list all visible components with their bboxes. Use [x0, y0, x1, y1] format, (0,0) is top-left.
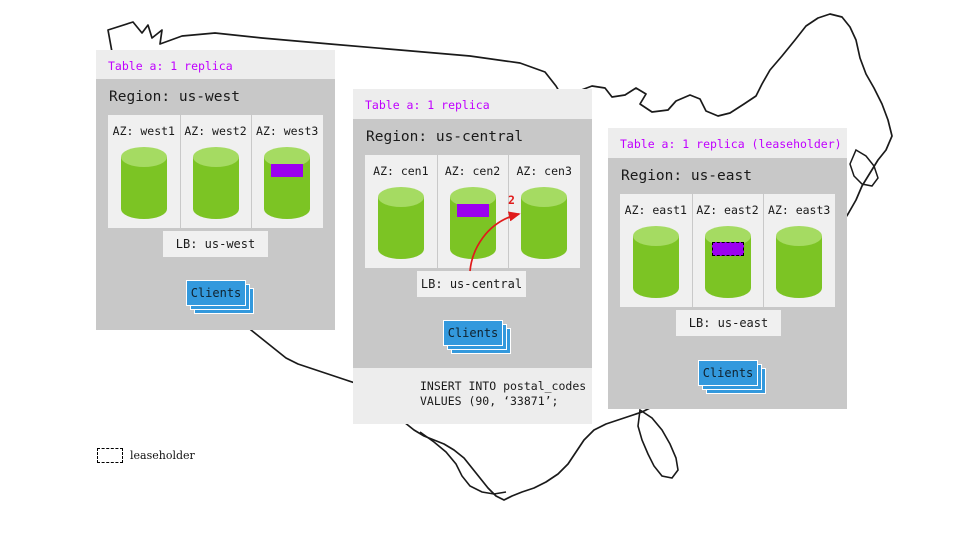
lb-label-us-west: LB: us-west — [176, 237, 255, 251]
az-label-east3: AZ: east3 — [768, 203, 830, 217]
az-label-cen3: AZ: cen3 — [516, 164, 571, 178]
clients-us-east[interactable]: Clients — [698, 360, 766, 394]
sql-statement-us-central: INSERT INTO postal_codes VALUES (90, ‘33… — [420, 379, 600, 409]
az-label-west3: AZ: west3 — [256, 124, 318, 138]
region-panel-us-east: Table a: 1 replica (leaseholder) — [608, 128, 847, 162]
az-label-east2: AZ: east2 — [696, 203, 758, 217]
az-cell-cen2[interactable]: AZ: cen2 — [437, 155, 509, 268]
clients-us-central[interactable]: Clients — [443, 320, 511, 354]
az-cell-east3[interactable]: AZ: east3 — [763, 194, 835, 307]
panel-title-us-east: Table a: 1 replica (leaseholder) — [608, 128, 847, 151]
replica-cylinder-west3[interactable] — [263, 146, 311, 220]
clients-us-west[interactable]: Clients — [186, 280, 254, 314]
replica-cylinder-east1[interactable] — [632, 225, 680, 299]
panel-title-us-west: Table a: 1 replica — [96, 50, 335, 73]
load-balancer-us-central[interactable]: LB: us-central — [417, 271, 526, 297]
az-label-west2: AZ: west2 — [184, 124, 246, 138]
az-label-west1: AZ: west1 — [113, 124, 175, 138]
replica-marker-west3 — [271, 164, 303, 177]
az-label-east1: AZ: east1 — [625, 203, 687, 217]
legend: leaseholder — [97, 448, 195, 463]
region-panel-us-central: Table a: 1 replica — [353, 89, 592, 123]
region-label-us-central: Region: us-central — [353, 119, 592, 145]
arrow-label-2: 2 — [508, 193, 515, 207]
diagram-canvas: Table a: 1 replica Region: us-west AZ: w… — [0, 0, 960, 540]
lb-label-us-central: LB: us-central — [421, 277, 522, 291]
clients-label-us-west: Clients — [191, 286, 242, 300]
legend-label: leaseholder — [130, 449, 195, 462]
clients-sheet-front[interactable]: Clients — [186, 280, 246, 306]
az-cell-west1[interactable]: AZ: west1 — [108, 115, 180, 228]
replica-cylinder-cen2[interactable] — [449, 186, 497, 260]
replica-cylinder-west1[interactable] — [120, 146, 168, 220]
load-balancer-us-west[interactable]: LB: us-west — [163, 231, 268, 257]
replica-cylinder-cen1[interactable] — [377, 186, 425, 260]
replica-cylinder-cen3[interactable] — [520, 186, 568, 260]
leaseholder-marker-east2 — [712, 242, 744, 256]
replica-marker-cen2 — [457, 204, 489, 217]
az-cell-cen3[interactable]: AZ: cen3 — [508, 155, 580, 268]
region-label-us-west: Region: us-west — [96, 79, 335, 105]
clients-label-us-east: Clients — [703, 366, 754, 380]
replica-cylinder-east2[interactable] — [704, 225, 752, 299]
az-label-cen1: AZ: cen1 — [373, 164, 428, 178]
az-cell-east2[interactable]: AZ: east2 — [692, 194, 764, 307]
az-row-us-west: AZ: west1 AZ: west2 AZ: west3 — [108, 115, 323, 228]
clients-label-us-central: Clients — [448, 326, 499, 340]
az-row-us-east: AZ: east1 AZ: east2 AZ: east3 — [620, 194, 835, 307]
replica-cylinder-west2[interactable] — [192, 146, 240, 220]
replica-cylinder-east3[interactable] — [775, 225, 823, 299]
dashed-rect-icon — [97, 448, 123, 463]
panel-title-us-central: Table a: 1 replica — [353, 89, 592, 112]
clients-sheet-front[interactable]: Clients — [443, 320, 503, 346]
az-cell-east1[interactable]: AZ: east1 — [620, 194, 692, 307]
az-label-cen2: AZ: cen2 — [445, 164, 500, 178]
lb-label-us-east: LB: us-east — [689, 316, 768, 330]
clients-sheet-front[interactable]: Clients — [698, 360, 758, 386]
region-label-us-east: Region: us-east — [608, 158, 847, 184]
az-cell-west3[interactable]: AZ: west3 — [251, 115, 323, 228]
az-cell-cen1[interactable]: AZ: cen1 — [365, 155, 437, 268]
az-row-us-central: AZ: cen1 AZ: cen2 AZ: cen3 — [365, 155, 580, 268]
az-cell-west2[interactable]: AZ: west2 — [180, 115, 252, 228]
load-balancer-us-east[interactable]: LB: us-east — [676, 310, 781, 336]
